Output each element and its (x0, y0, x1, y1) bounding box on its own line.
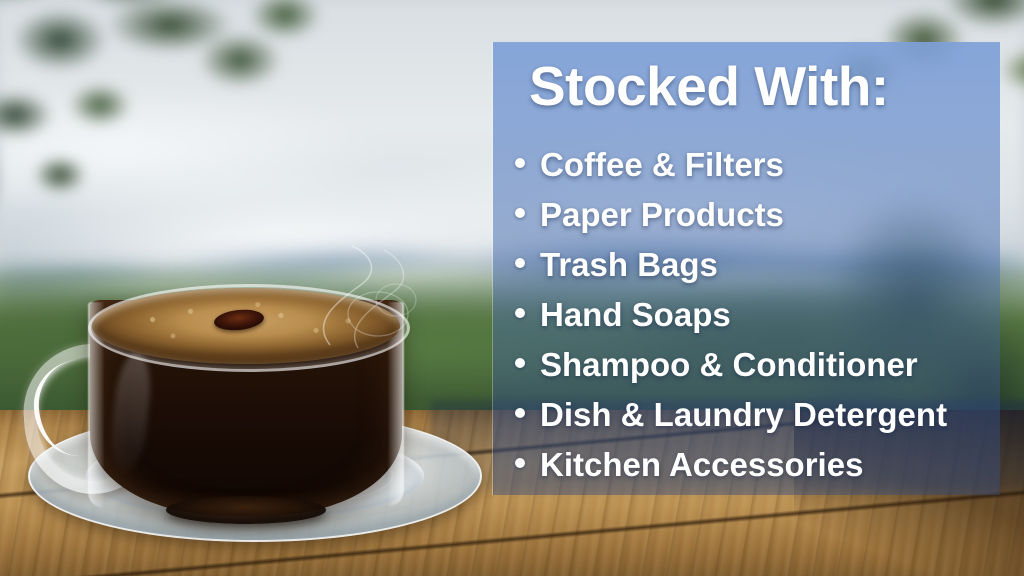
list-item: Shampoo & Conditioner (515, 340, 1000, 390)
list-item-label: Coffee & Filters (540, 140, 784, 190)
bullet-dot-icon (515, 258, 525, 268)
list-item: Kitchen Accessories (515, 440, 1000, 490)
slide-canvas: Stocked With: Coffee & Filters Paper Pro… (0, 0, 1024, 576)
bullet-dot-icon (515, 408, 525, 418)
list-item: Coffee & Filters (515, 140, 1000, 190)
tree-foliage-top-left (0, 0, 420, 260)
bullet-dot-icon (515, 308, 525, 318)
list-item: Hand Soaps (515, 290, 1000, 340)
list-item-label: Trash Bags (540, 240, 718, 290)
bullet-dot-icon (515, 208, 525, 218)
cup-base (166, 496, 326, 524)
steam-icon (300, 240, 440, 350)
list-item: Trash Bags (515, 240, 1000, 290)
list-item-label: Kitchen Accessories (540, 440, 863, 490)
bullet-dot-icon (515, 158, 525, 168)
list-item-label: Paper Products (540, 190, 784, 240)
list-item-label: Hand Soaps (540, 290, 731, 340)
stocked-with-panel: Stocked With: Coffee & Filters Paper Pro… (493, 42, 1000, 495)
list-item-label: Dish & Laundry Detergent (540, 390, 947, 440)
list-item-label: Shampoo & Conditioner (540, 340, 918, 390)
page-title: Stocked With: (529, 54, 889, 118)
bullet-dot-icon (515, 358, 525, 368)
bullet-dot-icon (515, 458, 525, 468)
stocked-items-list: Coffee & Filters Paper Products Trash Ba… (515, 140, 1000, 490)
list-item: Paper Products (515, 190, 1000, 240)
list-item: Dish & Laundry Detergent (515, 390, 1000, 440)
